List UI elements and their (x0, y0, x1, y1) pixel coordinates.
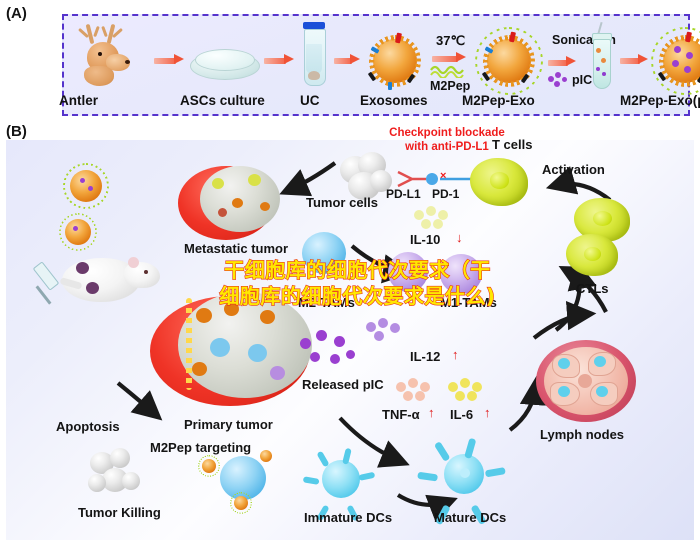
nanoparticle-icon (230, 492, 252, 514)
nanoparticle-icon (198, 455, 220, 477)
panel-a-step-label-uc: UC (300, 94, 320, 108)
nanoparticle-icon (62, 162, 110, 210)
il-6-cytokine-dots (448, 378, 488, 402)
t-cell-icon (470, 158, 528, 206)
il-6-trend-arrow: ↑ (484, 406, 491, 419)
apoptotic-cell-icon (88, 448, 144, 500)
pic-dots-icon (548, 72, 570, 88)
flow-arrow-4 (432, 54, 466, 63)
panel-a-step-label-exosomes: Exosomes (360, 94, 428, 108)
metastatic-tumor-illustration (178, 158, 290, 248)
lymph-node-illustration (534, 338, 640, 426)
tumor-cells-label: Tumor cells (306, 196, 378, 209)
checkpoint-line-2: with anti-PD-L1 (405, 141, 489, 153)
tnf-alpha-trend-arrow: ↑ (428, 406, 435, 419)
overlay-line-2: 细胞库的细胞代次要求是什么) (185, 284, 530, 310)
il-10-cytokine-dots (414, 206, 454, 232)
m2pep-squiggle-icon (430, 64, 470, 78)
flow-arrow-6 (620, 56, 648, 65)
flow-arrow-3 (334, 56, 360, 65)
pic-loaded-exosome-icon (650, 26, 700, 96)
blockade-x-mark: × (440, 170, 446, 182)
ctls-label: CTLs (576, 282, 609, 295)
pd-l1-label: PD-L1 (386, 188, 421, 200)
panel-b-tag: (B) (6, 124, 27, 139)
centrifuge-tube-icon (300, 22, 328, 88)
activation-label: Activation (542, 163, 605, 176)
t-cells-label: T cells (492, 138, 532, 151)
il-12-trend-arrow: ↑ (452, 348, 459, 361)
pd-1-label: PD-1 (432, 188, 459, 200)
lymph-nodes-label: Lymph nodes (540, 428, 624, 441)
panel-a-step-label-m2pep-exo: M2Pep-Exo (462, 94, 535, 108)
m2pep-targeting-label: M2Pep targeting (150, 441, 251, 454)
chinese-text-overlay: 干细胞库的细胞代次要求（干 细胞库的细胞代次要求是什么) (185, 258, 530, 309)
flow-arrow-1 (154, 56, 184, 65)
petri-dish-icon (188, 48, 260, 82)
overlay-line-1: 干细胞库的细胞代次要求（干 (224, 258, 491, 282)
panel-a-step-label-antler: Antler (59, 94, 98, 108)
peptide-exosome-icon (474, 26, 544, 96)
tnf-alpha-label: TNF-α (382, 408, 420, 421)
il-12-cytokine-dots (366, 318, 404, 342)
il-6-label: IL-6 (450, 408, 473, 421)
il-10-label: IL-10 (410, 233, 440, 246)
nanoparticle-icon (256, 446, 276, 466)
mature-dc-icon (428, 442, 500, 508)
deer-antler-icon (76, 24, 150, 86)
temperature-label: 37℃ (436, 34, 465, 47)
il-12-label: IL-12 (410, 350, 440, 363)
nanoparticle-icon (58, 212, 98, 252)
immature-dc-icon (310, 450, 372, 508)
tumor-killing-label: Tumor Killing (78, 506, 161, 519)
panel-a-step-label-m2pep-exo-pic: M2Pep-Exo(pIC) (620, 94, 700, 108)
panel-a-step-label-asc: ASCs culture (180, 94, 265, 108)
flow-arrow-2 (264, 56, 294, 65)
scientific-figure: (A) Antler ASCs culture (0, 0, 700, 547)
immature-dcs-label: Immature DCs (304, 511, 392, 524)
metastatic-tumor-label: Metastatic tumor (184, 242, 288, 255)
eppendorf-tube-icon (586, 22, 616, 90)
il-10-trend-arrow: ↓ (456, 231, 463, 244)
released-pic-dots (300, 330, 356, 372)
flow-arrow-5 (548, 58, 576, 67)
panel-a-tag: (A) (6, 6, 27, 21)
primary-tumor-label: Primary tumor (184, 418, 273, 431)
checkpoint-line-1: Checkpoint blockade (389, 127, 505, 139)
ctl-cell-icon (566, 234, 618, 276)
apoptosis-label: Apoptosis (56, 420, 120, 433)
m2pep-label: M2Pep (430, 80, 470, 93)
released-pic-label: Released pIC (302, 378, 384, 391)
mature-dcs-label: Mature DCs (434, 511, 506, 524)
tnf-alpha-cytokine-dots (396, 378, 436, 402)
exosome-icon (364, 30, 426, 92)
panel-a-content: Antler ASCs culture UC (62, 14, 690, 116)
